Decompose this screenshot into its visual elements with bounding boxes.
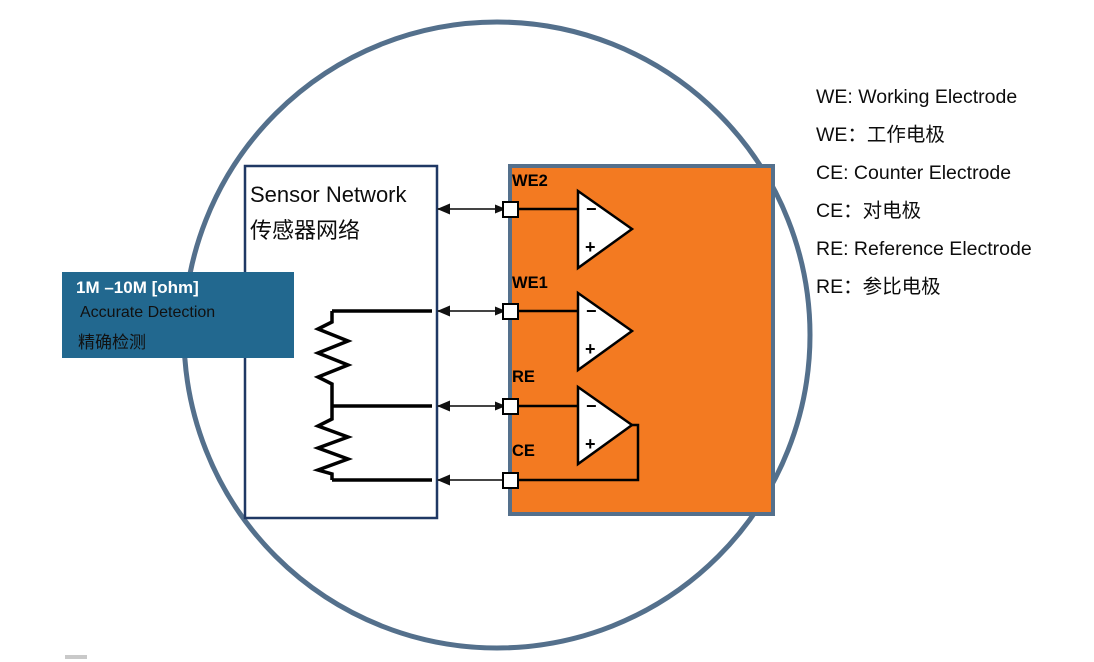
resistance-callout: 1M –10M [ohm] Accurate Detection 精确检测 [62,272,294,358]
sensor-network-label-en: Sensor Network [250,178,440,212]
terminal-we1[interactable] [503,304,518,319]
legend-item-ce-zh: CE：对电极 [816,192,1086,230]
callout-subtitle-en: Accurate Detection [80,304,215,322]
opamp-we2-minus-sign: − [586,199,597,219]
sensor-network-label-zh: 传感器网络 [250,212,440,250]
terminal-label-we1: WE1 [512,274,548,293]
afe-block [510,166,773,514]
terminal-we2[interactable] [503,202,518,217]
terminal-label-we2: WE2 [512,172,548,191]
terminal-ce[interactable] [503,473,518,488]
opamp-we2-plus-sign: + [585,237,596,257]
opamp-we1-minus-sign: − [586,301,597,321]
opamp-re-plus-sign: + [585,434,596,454]
watermark-mark [65,655,87,659]
legend-item-we-en: WE: Working Electrode [816,78,1086,116]
terminal-label-re: RE [512,368,535,387]
callout-range-text: 1M –10M [ohm] [76,278,199,298]
legend-item-re-en: RE: Reference Electrode [816,230,1086,268]
legend-item-re-zh: RE：参比电极 [816,268,1086,306]
diagram-canvas: − + − + − + Sensor Network 传感器网络 WE2 WE1… [0,0,1094,662]
legend: WE: Working Electrode WE：工作电极 CE: Counte… [816,78,1086,306]
opamp-we1-plus-sign: + [585,339,596,359]
legend-item-we-zh: WE：工作电极 [816,116,1086,154]
terminal-label-ce: CE [512,442,535,461]
opamp-re-minus-sign: − [586,396,597,416]
terminal-re[interactable] [503,399,518,414]
sensor-network-label: Sensor Network 传感器网络 [250,178,440,250]
callout-subtitle-zh: 精确检测 [78,328,146,353]
legend-item-ce-en: CE: Counter Electrode [816,154,1086,192]
